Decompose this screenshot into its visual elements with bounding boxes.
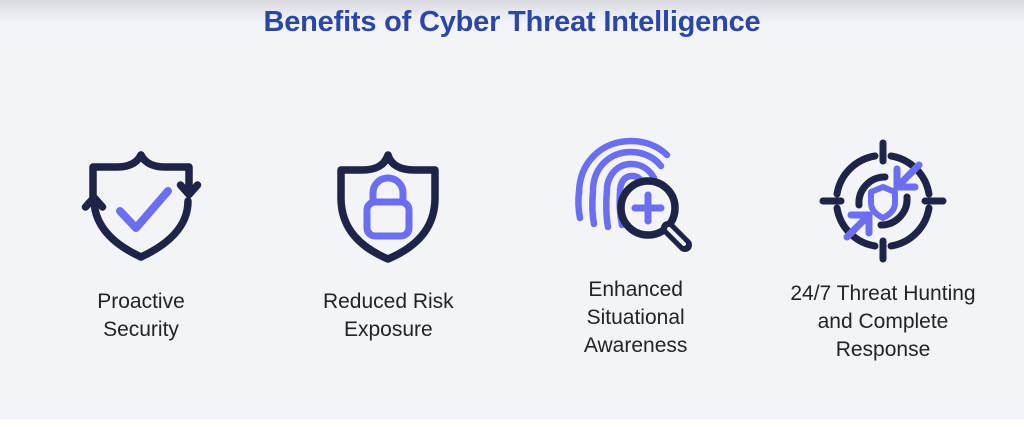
page-title: Benefits of Cyber Threat Intelligence xyxy=(0,6,1024,39)
shield-lock-icon xyxy=(332,146,444,264)
benefit-label: Enhanced Situational Awareness xyxy=(584,276,688,360)
fingerprint-magnifier-icon xyxy=(573,132,699,262)
benefit-icon-wrapper xyxy=(323,140,453,270)
benefit-item-threat-hunting-response: 24/7 Threat Hunting and Complete Respons… xyxy=(764,132,1002,364)
magnifier-icon xyxy=(621,181,685,245)
benefit-label: 24/7 Threat Hunting and Complete Respons… xyxy=(790,280,975,364)
crosshair-target-shield-icon xyxy=(819,139,947,263)
shield-check-cycle-icon xyxy=(81,143,201,263)
bottom-white-strip xyxy=(0,419,1024,427)
benefit-icon-wrapper xyxy=(76,138,206,268)
benefit-icon-wrapper xyxy=(818,136,948,266)
shield-outline xyxy=(341,155,435,259)
padlock-icon xyxy=(367,178,409,236)
benefit-label: Proactive Security xyxy=(97,288,185,344)
benefit-item-reduced-risk-exposure: Reduced Risk Exposure xyxy=(269,132,507,344)
check-mark-icon xyxy=(120,191,168,228)
benefits-row: Proactive Security Reduced Risk Exposure xyxy=(0,132,1024,364)
center-shield-icon xyxy=(871,187,895,218)
benefit-item-proactive-security: Proactive Security xyxy=(22,132,260,344)
benefit-item-enhanced-situational-awareness: Enhanced Situational Awareness xyxy=(517,132,755,360)
benefit-label: Reduced Risk Exposure xyxy=(323,288,454,344)
infographic-card: Benefits of Cyber Threat Intelligence xyxy=(0,0,1024,419)
benefit-icon-wrapper xyxy=(571,132,701,262)
